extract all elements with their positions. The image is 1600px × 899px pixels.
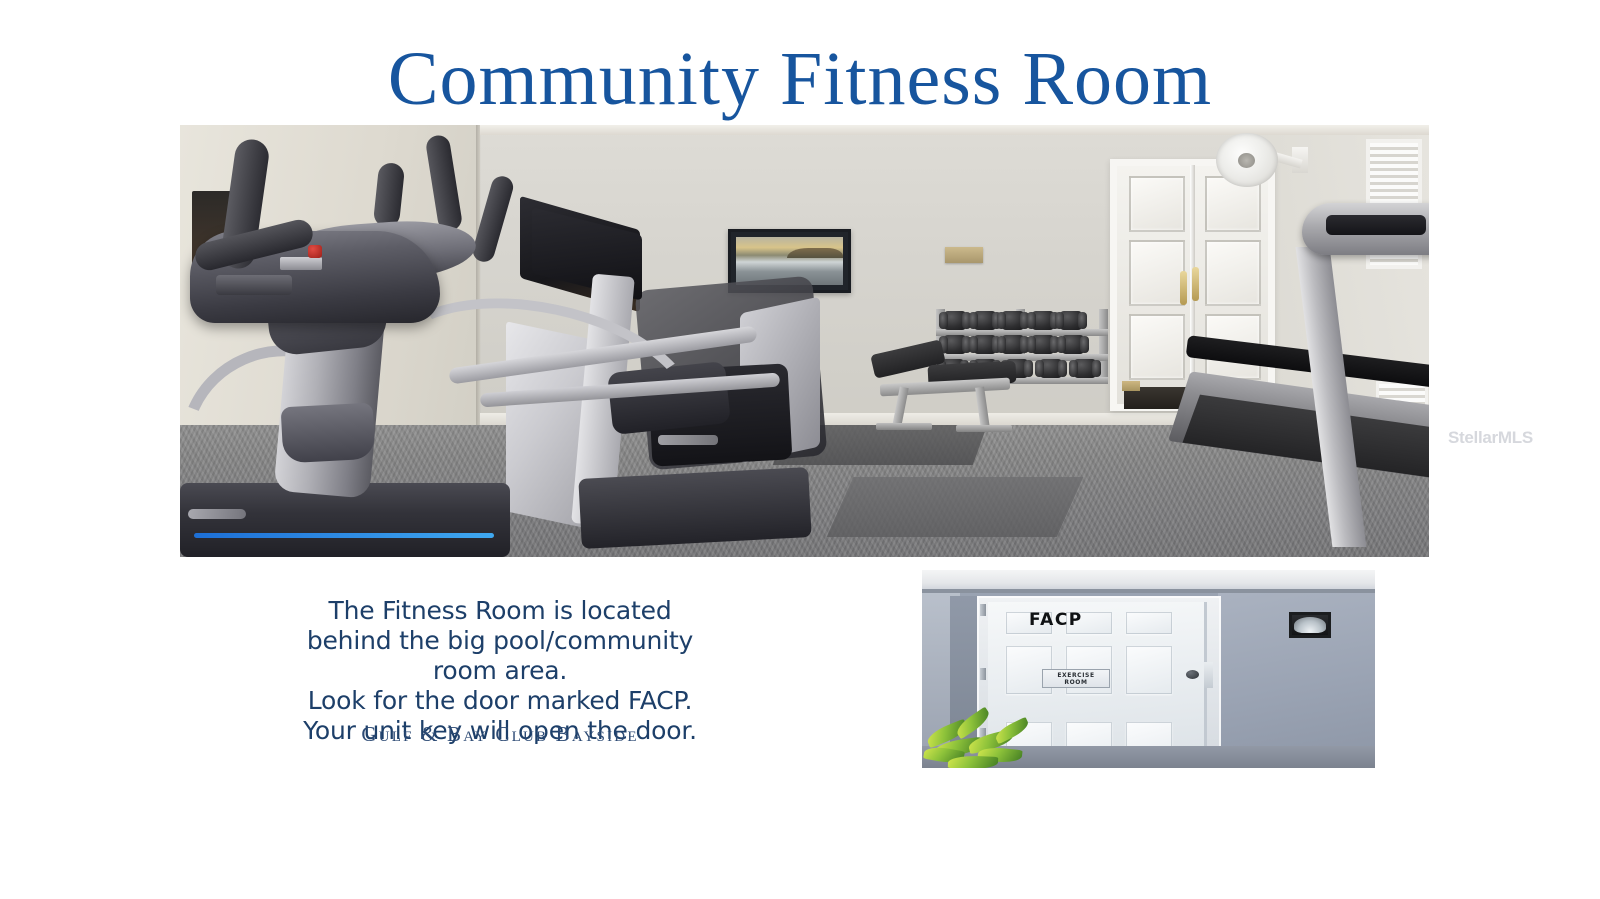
bench-foot	[956, 425, 1012, 432]
dumbbell-row	[938, 311, 1108, 331]
weight-bench	[872, 347, 1017, 431]
elliptical-machines	[180, 135, 820, 557]
facp-door-label: FACP	[1029, 610, 1083, 630]
dumbbell	[972, 311, 998, 330]
fan-hub	[1238, 153, 1255, 168]
machine-handlebar	[373, 162, 406, 228]
wall-fan-icon	[1216, 133, 1288, 189]
console-panel	[216, 275, 292, 295]
bottle-holder	[281, 403, 376, 464]
gym-room-photo	[180, 125, 1429, 557]
door-panel	[1129, 176, 1185, 232]
elliptical-logo	[188, 509, 246, 519]
dumbbell	[942, 311, 968, 330]
dumbbell	[1030, 335, 1056, 354]
door-panel	[1126, 612, 1172, 634]
sign-line-2: ROOM	[1064, 679, 1087, 686]
facp-door-photo: FACP EXERCISE ROOM	[922, 570, 1375, 768]
elliptical-accent-stripe	[194, 533, 494, 538]
console-stop-button	[308, 245, 322, 258]
sign-line-1: EXERCISE	[1057, 672, 1094, 679]
door-knob[interactable]	[1186, 670, 1199, 679]
door-strike-plate	[1204, 662, 1213, 688]
stellar-mls-watermark: StellarMLS	[1448, 428, 1533, 448]
leaf	[993, 717, 1031, 744]
caption-line: room area.	[190, 656, 810, 686]
door-panel	[1129, 314, 1185, 380]
machine-handlebar	[425, 134, 464, 233]
leaf	[948, 755, 998, 768]
caption-line: The Fitness Room is located	[190, 596, 810, 626]
dumbbell	[1030, 311, 1056, 330]
treadmill	[1240, 203, 1429, 557]
wall-plaque	[945, 247, 983, 263]
dumbbell	[1060, 335, 1086, 354]
dumbbell	[1038, 359, 1064, 378]
dumbbell	[1072, 359, 1098, 378]
machine-handlebar	[470, 174, 515, 265]
floor-mat	[827, 477, 1084, 537]
door-hinge	[980, 668, 986, 680]
bench-leg	[975, 387, 990, 430]
community-brand-name: Gulf & Bay Club Bayside	[190, 722, 810, 747]
door-handle	[1192, 267, 1199, 301]
console-keypad	[280, 257, 322, 270]
dumbbell	[1000, 311, 1026, 330]
soffit-edge	[922, 589, 1375, 593]
door-threshold	[1122, 381, 1140, 391]
shrub-plant	[924, 696, 1042, 768]
door-panel	[1129, 240, 1185, 306]
bench-foot	[876, 423, 932, 430]
wall-light-lens	[1294, 617, 1326, 633]
page-title: Community Fitness Room	[0, 36, 1600, 122]
caption-line: behind the big pool/community	[190, 626, 810, 656]
door-hinge	[980, 604, 986, 616]
exercise-room-sign: EXERCISE ROOM	[1042, 669, 1110, 688]
dumbbell	[1058, 311, 1084, 330]
door-handle	[1180, 271, 1187, 305]
door-panel	[1126, 646, 1172, 694]
treadmill-display	[1326, 215, 1426, 235]
caption-line: Look for the door marked FACP.	[190, 686, 810, 716]
